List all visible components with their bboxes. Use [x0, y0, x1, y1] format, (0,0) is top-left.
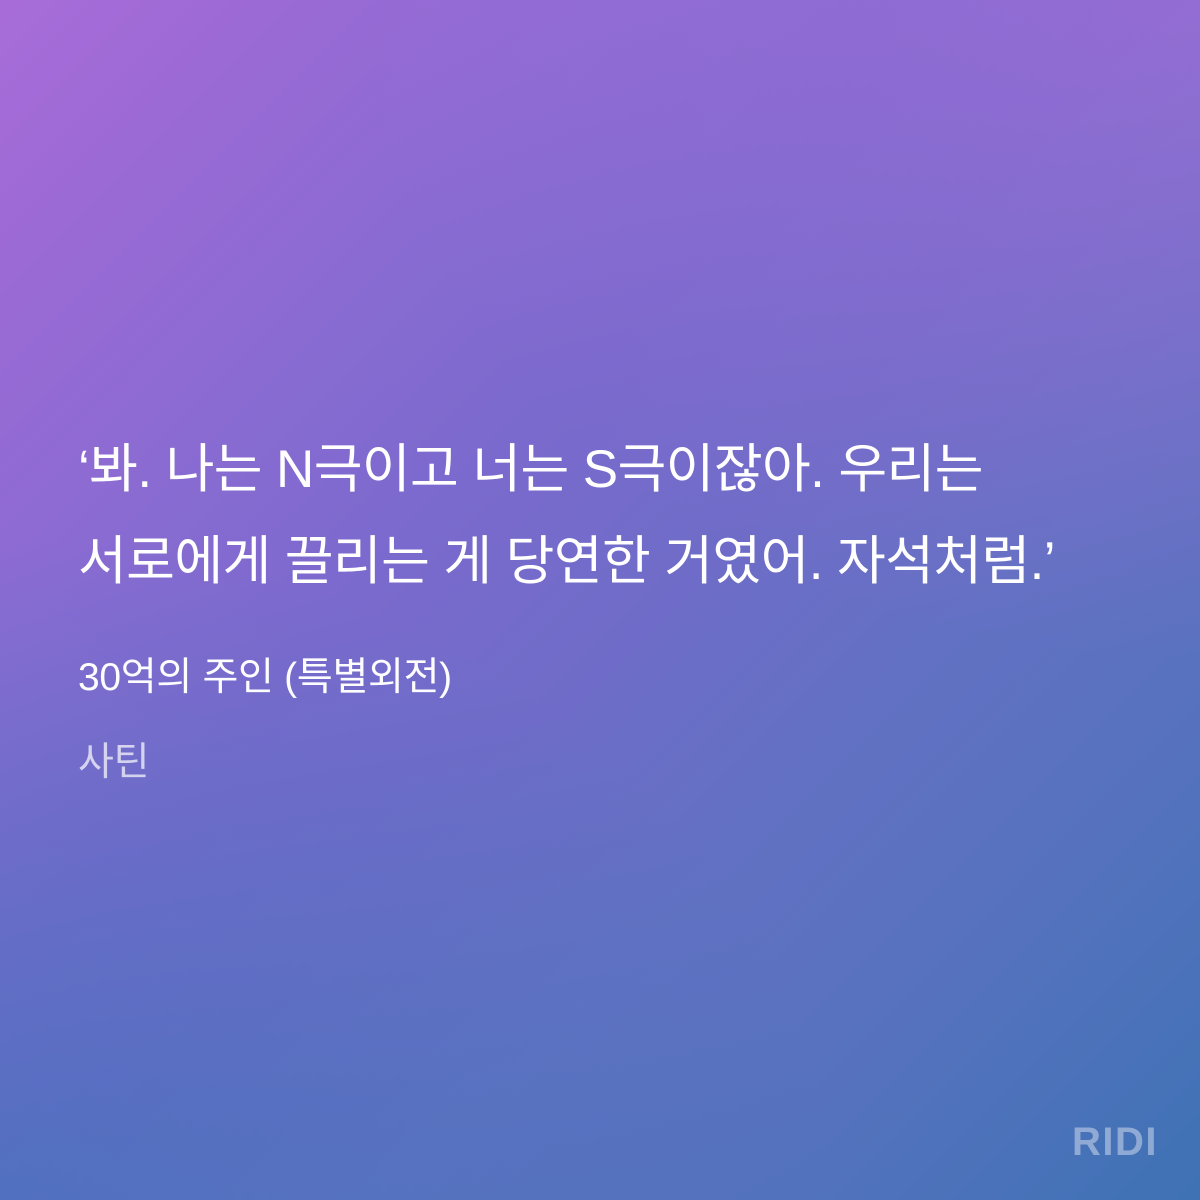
- ridi-logo: RIDI: [1072, 1122, 1158, 1162]
- card-content: ‘봐. 나는 N극이고 너는 S극이잖아. 우리는 서로에게 끌리는 게 당연한…: [78, 0, 1140, 1200]
- quote-card: ‘봐. 나는 N극이고 너는 S극이잖아. 우리는 서로에게 끌리는 게 당연한…: [0, 0, 1200, 1200]
- book-author: 사틴: [78, 735, 149, 791]
- book-title: 30억의 주인 (특별외전): [78, 650, 452, 706]
- quote-text: ‘봐. 나는 N극이고 너는 S극이잖아. 우리는 서로에게 끌리는 게 당연한…: [78, 424, 1134, 608]
